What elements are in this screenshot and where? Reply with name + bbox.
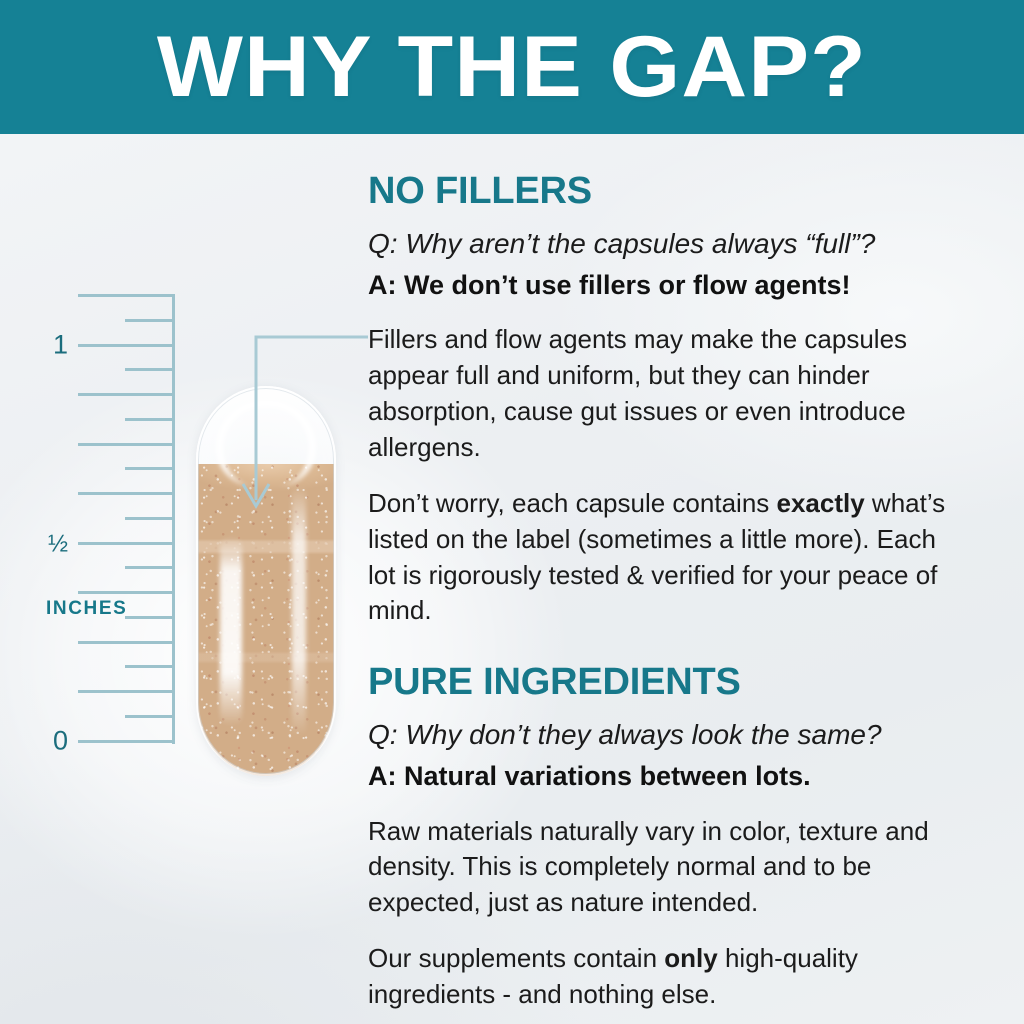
question-text: Q: Why don’t they always look the same? [368,717,968,753]
answer-text: A: We don’t use fillers or flow agents! [368,268,968,303]
emphasis-text: exactly [777,488,865,518]
ruler-tick-major [78,443,175,446]
ruler-tick-minor [125,418,175,421]
emphasis-text: only [664,943,717,973]
section-heading: PURE INGREDIENTS [368,663,968,703]
capsule-left-highlight [220,536,242,726]
copy-column: NO FILLERSQ: Why aren’t the capsules alw… [368,172,968,1024]
paragraph-text: Our supplements contain [368,943,664,973]
ruler-tick-major [78,492,175,495]
ruler-tick-major [78,591,175,594]
question-text: Q: Why aren’t the capsules always “full”… [368,226,968,262]
ruler-label-½: ½ [48,529,68,556]
ruler-tick-major [78,740,175,743]
ruler-label-0: 0 [53,727,68,754]
faq-section-list: NO FILLERSQ: Why aren’t the capsules alw… [368,172,968,1013]
answer-text: A: Natural variations between lots. [368,759,968,794]
paragraph-text: Fillers and flow agents may make the cap… [368,324,907,462]
ruler-tick-major [78,344,175,347]
ruler-unit-label: INCHES [46,598,127,620]
body-paragraph: Don’t worry, each capsule contains exact… [368,486,968,630]
faq-section: PURE INGREDIENTSQ: Why don’t they always… [368,663,968,1013]
header-banner: WHY THE GAP? [0,0,1024,134]
paragraph-text: Don’t worry, each capsule contains [368,488,777,518]
ruler-label-1: 1 [53,331,68,358]
ruler-tick-minor [125,368,175,371]
ruler-tick-minor [125,566,175,569]
body-paragraph: Fillers and flow agents may make the cap… [368,322,968,466]
paragraph-text: Raw materials naturally vary in color, t… [368,816,929,918]
ruler-tick-major [78,393,175,396]
ruler-tick-major [78,542,175,545]
callout-arrow-icon [240,324,370,524]
section-heading: NO FILLERS [368,172,968,212]
body-paragraph: Raw materials naturally vary in color, t… [368,814,968,922]
ruler-tick-major [78,641,175,644]
body-paragraph: Our supplements contain only high-qualit… [368,941,968,1013]
inch-ruler: 1½0 [40,294,175,754]
ruler-tick-major [78,294,175,297]
ruler-tick-major [78,690,175,693]
product-visual-column: 1½0 INCHES [0,134,360,1024]
ruler-tick-minor [125,319,175,322]
ruler-tick-minor [125,517,175,520]
ruler-tick-minor [125,616,175,619]
ruler-tick-minor [125,467,175,470]
page-title: WHY THE GAP? [157,24,867,110]
ruler-tick-minor [125,665,175,668]
ruler-tick-minor [125,715,175,718]
faq-section: NO FILLERSQ: Why aren’t the capsules alw… [368,172,968,663]
